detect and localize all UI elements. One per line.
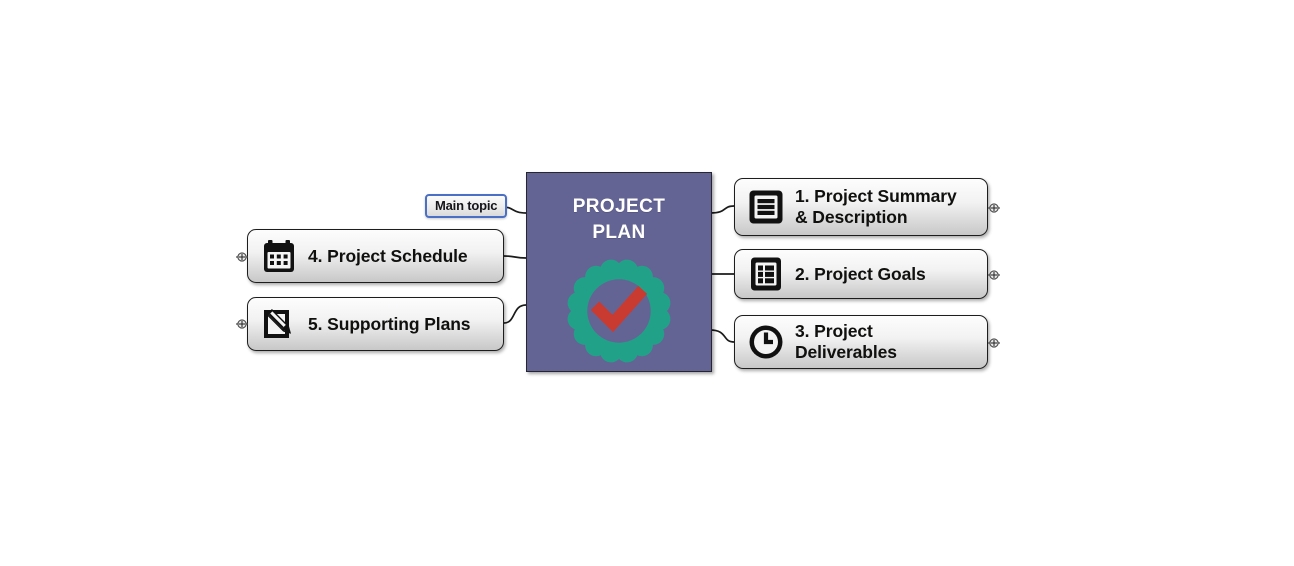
connector-to-project-schedule — [504, 256, 526, 258]
expander-project-deliverables[interactable] — [988, 336, 1000, 348]
node-project-goals[interactable]: 2. Project Goals — [734, 249, 988, 299]
connector-to-project-deliverables — [710, 330, 734, 342]
expander-project-schedule[interactable] — [236, 250, 248, 262]
document-lines-icon — [746, 187, 786, 227]
node-label: 2. Project Goals — [795, 264, 926, 285]
edit-pencil-note-icon — [259, 304, 299, 344]
verified-check-badge-icon — [567, 259, 671, 368]
node-supporting-plans[interactable]: 5. Supporting Plans — [247, 297, 504, 351]
page-title: PROJECTPLAN — [573, 194, 666, 246]
connector-to-project-summary — [710, 206, 734, 213]
center-title-line2: PLAN — [592, 222, 645, 243]
node-project-schedule[interactable]: 4. Project Schedule — [247, 229, 504, 283]
calendar-icon — [259, 236, 299, 276]
main-topic-tag-label: Main topic — [435, 198, 497, 213]
clock-icon — [746, 322, 786, 362]
connector-to-supporting-plans — [504, 305, 526, 323]
node-project-summary[interactable]: 1. Project Summary & Description — [734, 178, 988, 236]
expander-project-summary[interactable] — [988, 201, 1000, 213]
node-label: 5. Supporting Plans — [308, 314, 470, 335]
node-label: 3. Project Deliverables — [795, 321, 977, 363]
central-topic-panel[interactable]: PROJECTPLAN — [526, 172, 712, 372]
center-title-line1: PROJECT — [573, 196, 666, 217]
node-project-deliverables[interactable]: 3. Project Deliverables — [734, 315, 988, 369]
list-grid-icon — [746, 254, 786, 294]
node-label: 4. Project Schedule — [308, 246, 468, 267]
main-topic-tag[interactable]: Main topic — [425, 194, 507, 218]
node-label: 1. Project Summary & Description — [795, 186, 957, 228]
mindmap-canvas: PROJECTPLAN Main topic — [0, 0, 1294, 566]
expander-supporting-plans[interactable] — [236, 317, 248, 329]
expander-project-goals[interactable] — [988, 268, 1000, 280]
